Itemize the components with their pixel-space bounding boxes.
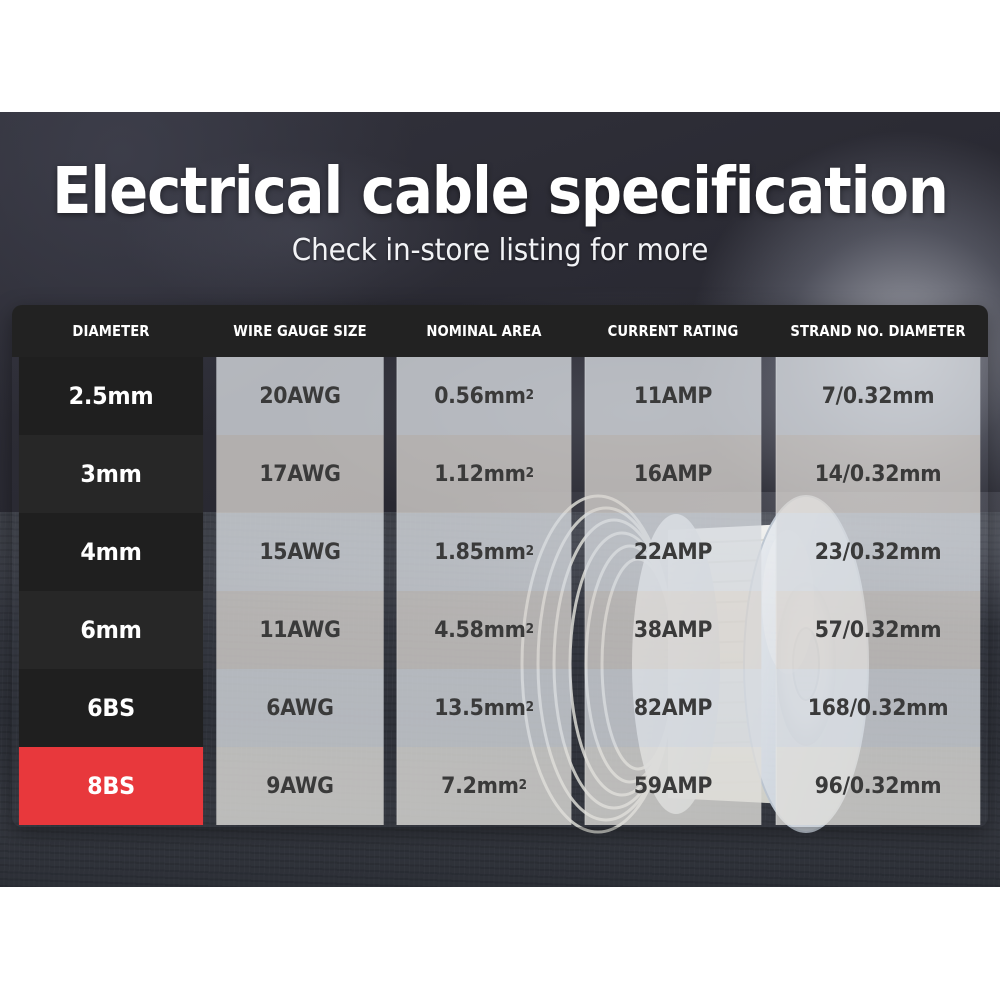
cell-nominal-area: 13.5mm2 [397,669,572,747]
cell-current-rating: 59AMP [585,747,762,825]
cell-wire-gauge: 6AWG [216,669,383,747]
column-header-diameter: DIAMETER [24,305,198,357]
cell-strand-diameter: 168/0.32mm [776,669,981,747]
product-infographic: Electrical cable specification Check in-… [0,0,1000,1000]
cell-nominal-area: 0.56mm2 [397,357,572,435]
cell-nominal-area: 1.85mm2 [397,513,572,591]
cell-diameter: 2.5mm [19,357,203,435]
column-header-strand-diameter: STRAND NO. DIAMETER [781,305,975,357]
table-row: 3mm17AWG1.12mm216AMP14/0.32mm [12,435,988,513]
column-header-current-rating: CURRENT RATING [589,305,756,357]
cell-wire-gauge: 9AWG [216,747,383,825]
frame-top [0,0,1000,112]
cell-strand-diameter: 57/0.32mm [776,591,981,669]
cell-diameter: 6BS [19,669,203,747]
cell-current-rating: 82AMP [585,669,762,747]
table-body: 2.5mm20AWG0.56mm211AMP7/0.32mm3mm17AWG1.… [12,357,988,825]
cell-wire-gauge: 17AWG [216,435,383,513]
table-row: 2.5mm20AWG0.56mm211AMP7/0.32mm [12,357,988,435]
cell-strand-diameter: 7/0.32mm [776,357,981,435]
table-row: 4mm15AWG1.85mm222AMP23/0.32mm [12,513,988,591]
cell-current-rating: 22AMP [585,513,762,591]
table-row: 8BS9AWG7.2mm259AMP96/0.32mm [12,747,988,825]
cell-strand-diameter: 23/0.32mm [776,513,981,591]
cell-nominal-area: 7.2mm2 [397,747,572,825]
cell-strand-diameter: 14/0.32mm [776,435,981,513]
table-row: 6BS6AWG13.5mm282AMP168/0.32mm [12,669,988,747]
cell-nominal-area: 1.12mm2 [397,435,572,513]
page-title: Electrical cable specification [50,155,950,229]
cell-wire-gauge: 15AWG [216,513,383,591]
cell-strand-diameter: 96/0.32mm [776,747,981,825]
column-header-nominal-area: NOMINAL AREA [401,305,566,357]
table-row: 6mm11AWG4.58mm238AMP57/0.32mm [12,591,988,669]
cell-diameter: 6mm [19,591,203,669]
column-header-wire-gauge: WIRE GAUGE SIZE [221,305,379,357]
cell-current-rating: 38AMP [585,591,762,669]
cell-nominal-area: 4.58mm2 [397,591,572,669]
table-header-row: DIAMETER WIRE GAUGE SIZE NOMINAL AREA CU… [12,305,988,357]
cell-current-rating: 11AMP [585,357,762,435]
cell-diameter: 8BS [19,747,203,825]
cell-wire-gauge: 11AWG [216,591,383,669]
heading-block: Electrical cable specification Check in-… [0,155,1000,269]
cell-wire-gauge: 20AWG [216,357,383,435]
cell-current-rating: 16AMP [585,435,762,513]
cable-specification-table: DIAMETER WIRE GAUGE SIZE NOMINAL AREA CU… [12,305,988,827]
page-subtitle: Check in-store listing for more [35,233,965,269]
cell-diameter: 4mm [19,513,203,591]
cell-diameter: 3mm [19,435,203,513]
frame-bottom [0,887,1000,1000]
